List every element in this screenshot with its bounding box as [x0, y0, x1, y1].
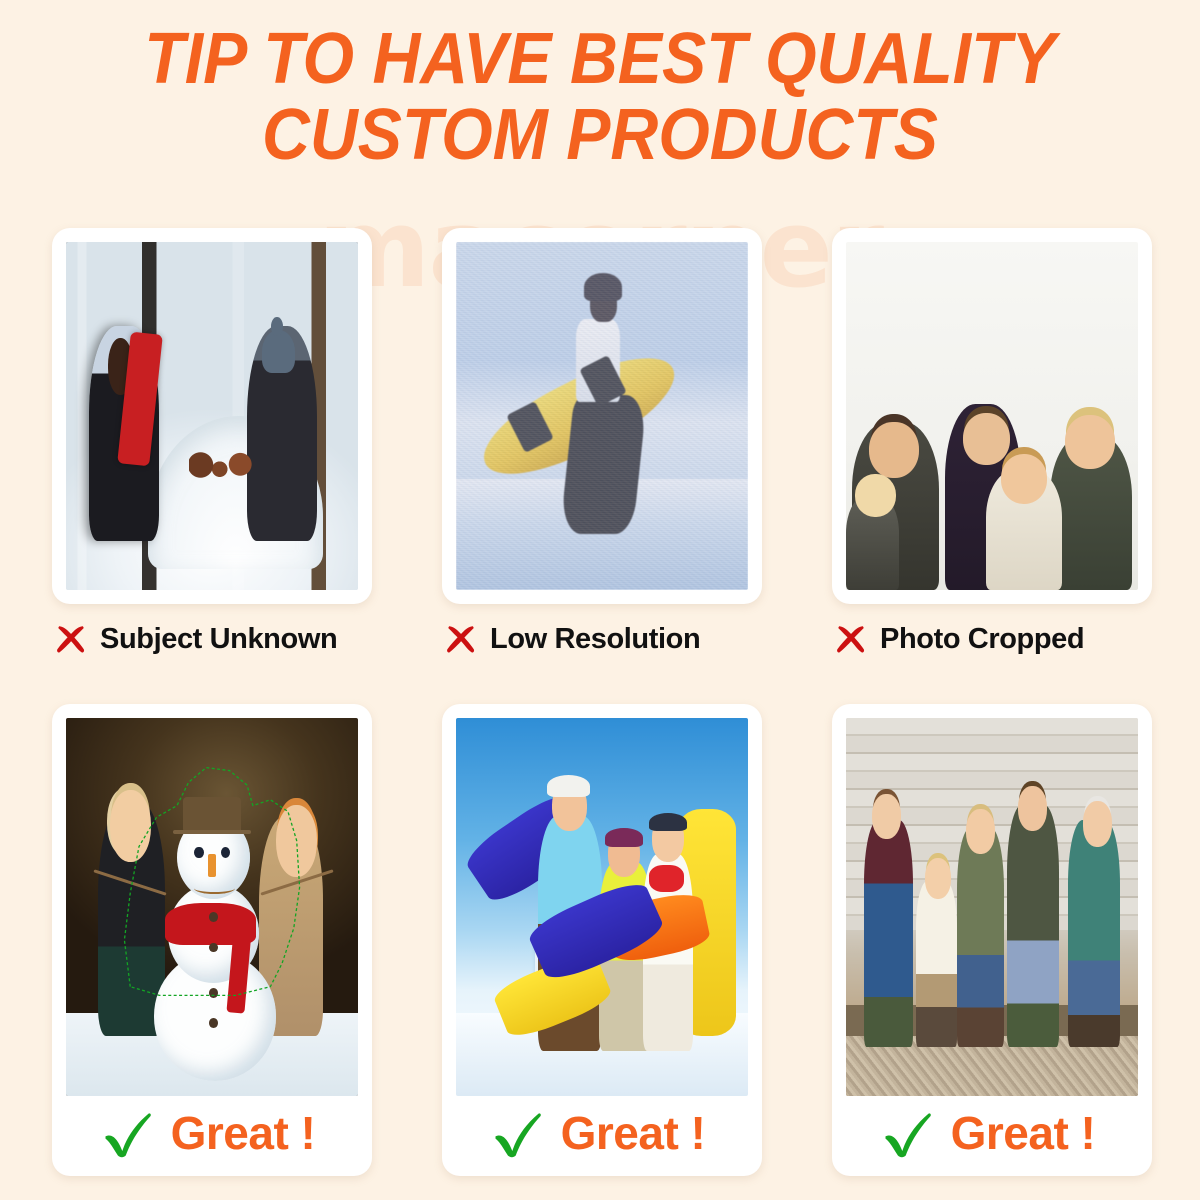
good-example-snowman: Great !	[52, 704, 372, 1176]
photo-card[interactable]	[442, 228, 762, 604]
bad-label: Low Resolution	[442, 622, 762, 656]
good-label: Great !	[846, 1096, 1138, 1170]
bad-example-low-resolution: Low Resolution	[442, 228, 762, 656]
bad-example-photo-cropped: Photo Cropped	[832, 228, 1152, 656]
bad-label-text: Photo Cropped	[880, 623, 1084, 656]
good-example-family: Great !	[832, 704, 1152, 1176]
cross-icon	[834, 622, 868, 656]
photo-card[interactable]: Great !	[442, 704, 762, 1176]
good-examples-row: Great !	[52, 704, 1152, 1176]
bad-label: Photo Cropped	[832, 622, 1152, 656]
photo-cropped-family	[846, 242, 1138, 590]
good-label-text: Great !	[171, 1106, 316, 1160]
bad-label: Subject Unknown	[52, 622, 372, 656]
good-label: Great !	[456, 1096, 748, 1170]
photo-card[interactable]	[832, 228, 1152, 604]
bad-examples-row: Subject Unknown	[52, 228, 1152, 656]
good-label-text: Great !	[951, 1106, 1096, 1160]
check-icon	[491, 1106, 545, 1160]
good-example-snowboarders: Great !	[442, 704, 762, 1176]
photo-card[interactable]: Great !	[832, 704, 1152, 1176]
bad-label-text: Low Resolution	[490, 623, 700, 656]
cross-icon	[444, 622, 478, 656]
green-selection-outline	[66, 718, 358, 1010]
photo-family-by-wooden-wall	[846, 718, 1138, 1096]
good-label: Great !	[66, 1096, 358, 1170]
check-icon	[101, 1106, 155, 1160]
cross-icon	[54, 622, 88, 656]
good-label-text: Great !	[561, 1106, 706, 1160]
page-title: TIP TO HAVE BEST QUALITY CUSTOM PRODUCTS	[48, 22, 1152, 173]
photo-two-women-building-snowman	[66, 242, 358, 590]
photo-pixelated-snowboarder	[456, 242, 748, 590]
examples-grid: Subject Unknown	[52, 228, 1152, 1176]
page-title-line-2: CUSTOM PRODUCTS	[48, 98, 1152, 174]
photo-card[interactable]	[52, 228, 372, 604]
photo-card[interactable]: Great !	[52, 704, 372, 1176]
check-icon	[881, 1106, 935, 1160]
page-title-line-1: TIP TO HAVE BEST QUALITY	[144, 19, 1055, 99]
bad-label-text: Subject Unknown	[100, 623, 337, 656]
bad-example-subject-unknown: Subject Unknown	[52, 228, 372, 656]
photo-three-snowboarders	[456, 718, 748, 1096]
photo-women-with-snowman-outlined	[66, 718, 358, 1096]
